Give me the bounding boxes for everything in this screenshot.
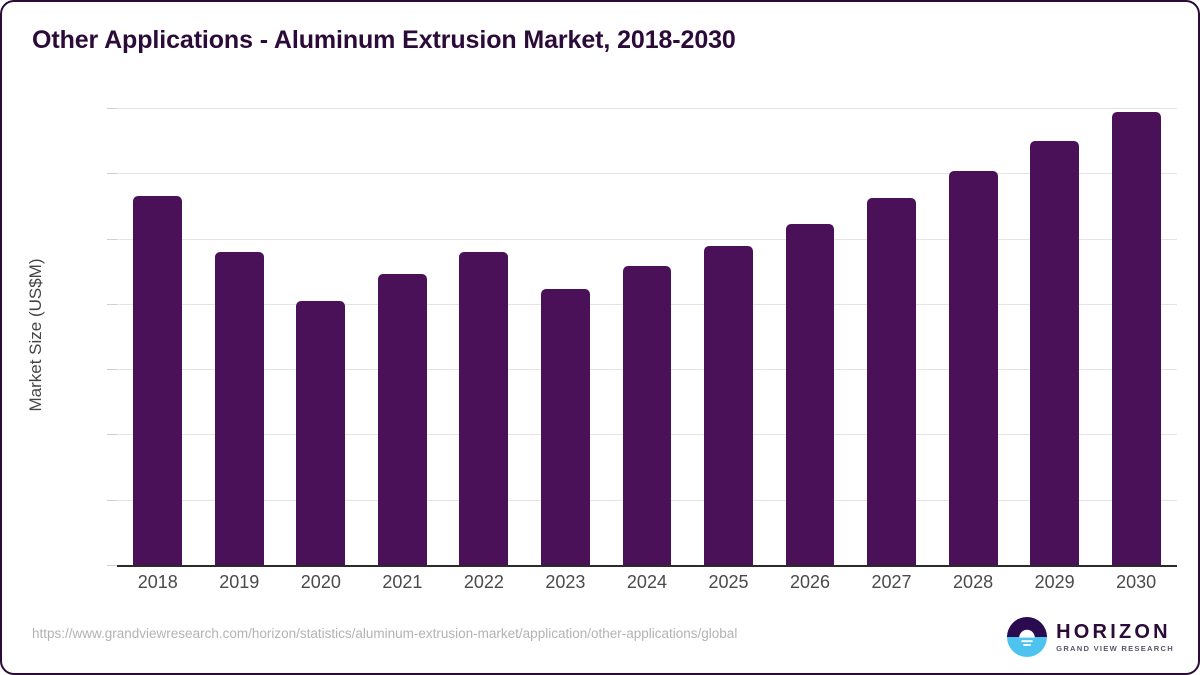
bar[interactable] [704, 246, 753, 565]
x-tick-label: 2026 [769, 572, 851, 593]
y-tick-mark [107, 173, 117, 174]
bar-slot [1095, 108, 1177, 565]
x-tick-label: 2019 [199, 572, 281, 593]
y-tick-mark [107, 434, 117, 435]
bar-slot [199, 108, 281, 565]
y-tick-mark [107, 108, 117, 109]
y-tick-mark [107, 565, 117, 566]
bar[interactable] [1030, 141, 1079, 565]
bar-slot [117, 108, 199, 565]
y-tick-mark [107, 304, 117, 305]
bar-slot [362, 108, 444, 565]
brand-wordmark: HORIZON GRAND VIEW RESEARCH [1056, 622, 1174, 653]
horizon-sunrise-icon [1007, 617, 1047, 657]
x-tick-label: 2018 [117, 572, 199, 593]
bar-slot [1014, 108, 1096, 565]
x-tick-label: 2030 [1095, 572, 1177, 593]
x-axis-labels: 2018201920202021202220232024202520262027… [117, 572, 1177, 593]
brand-tagline: GRAND VIEW RESEARCH [1056, 645, 1174, 653]
bar-slot [769, 108, 851, 565]
bar-series [117, 108, 1177, 565]
page-title: Other Applications - Aluminum Extrusion … [32, 26, 736, 55]
x-tick-label: 2029 [1014, 572, 1096, 593]
y-axis-title: Market Size (US$M) [26, 125, 46, 545]
bar[interactable] [541, 289, 590, 565]
bar[interactable] [215, 252, 264, 565]
x-tick-label: 2022 [443, 572, 525, 593]
bar-slot [932, 108, 1014, 565]
bar-slot [688, 108, 770, 565]
plot-area: Market Size (US$M) 02k4k6k8k10k12k14k 20… [2, 97, 1200, 602]
bar[interactable] [949, 171, 998, 565]
x-tick-label: 2021 [362, 572, 444, 593]
x-tick-label: 2028 [932, 572, 1014, 593]
x-tick-label: 2027 [851, 572, 933, 593]
bar-slot [280, 108, 362, 565]
chart-card: Other Applications - Aluminum Extrusion … [0, 0, 1200, 675]
bar[interactable] [296, 301, 345, 565]
bar[interactable] [786, 224, 835, 565]
bar[interactable] [623, 266, 672, 565]
x-tick-label: 2023 [525, 572, 607, 593]
brand-name: HORIZON [1056, 622, 1174, 642]
x-tick-label: 2020 [280, 572, 362, 593]
bar[interactable] [378, 274, 427, 565]
y-tick-mark [107, 239, 117, 240]
bar[interactable] [459, 252, 508, 565]
gridline [117, 565, 1177, 567]
bar-slot [443, 108, 525, 565]
chart-footer: https://www.grandviewresearch.com/horizo… [2, 613, 1200, 659]
brand-logo[interactable]: HORIZON GRAND VIEW RESEARCH [1007, 617, 1174, 657]
x-tick-label: 2024 [606, 572, 688, 593]
y-tick-mark [107, 500, 117, 501]
bar-slot [606, 108, 688, 565]
x-tick-label: 2025 [688, 572, 770, 593]
bar-slot [851, 108, 933, 565]
grid-area: 02k4k6k8k10k12k14k [117, 108, 1177, 565]
bar-slot [525, 108, 607, 565]
source-url[interactable]: https://www.grandviewresearch.com/horizo… [32, 626, 737, 641]
bar[interactable] [1112, 112, 1161, 565]
bar[interactable] [133, 196, 182, 565]
y-tick-mark [107, 369, 117, 370]
bar[interactable] [867, 198, 916, 565]
